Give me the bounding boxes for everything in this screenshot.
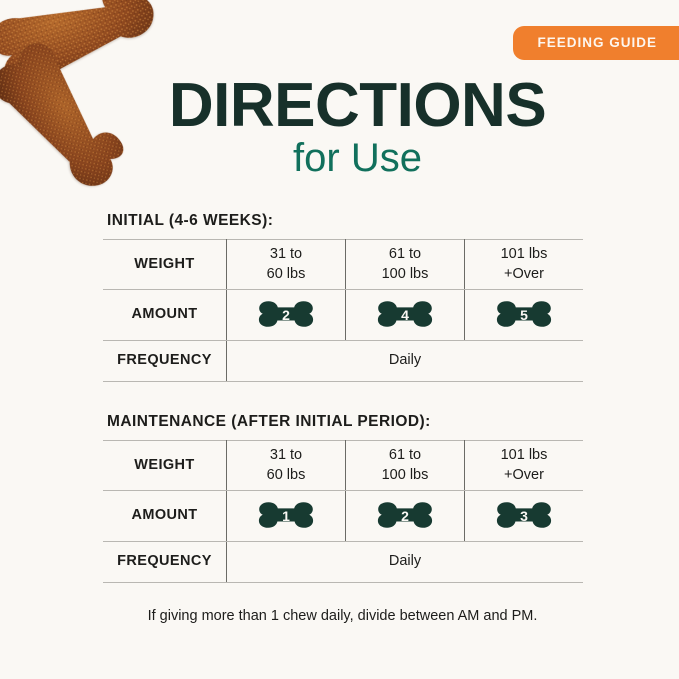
weight-cell-2: 61 to 100 lbs [346,441,465,491]
bone-amount-value: 2 [255,300,317,330]
bone-icon: 2 [374,501,436,531]
weight-line-1: 31 to [227,446,345,466]
bone-icon: 1 [255,501,317,531]
row-label-amount: AMOUNT [103,290,227,341]
bone-icon: 3 [493,501,555,531]
amount-cell-1: 2 [227,290,346,341]
row-label-frequency: FREQUENCY [103,341,227,382]
weight-cell-1: 31 to 60 lbs [227,441,346,491]
weight-cell-1: 31 to 60 lbs [227,240,346,290]
bone-icon: 2 [255,300,317,330]
bone-amount-value: 2 [374,501,436,531]
weight-line-2: 100 lbs [346,466,464,486]
weight-line-2: 100 lbs [346,265,464,285]
bone-amount-value: 4 [374,300,436,330]
table-row-frequency: FREQUENCY Daily [103,542,583,583]
section-heading-maintenance: MAINTENANCE (AFTER INITIAL PERIOD): [107,413,578,431]
bone-amount-value: 1 [255,501,317,531]
amount-cell-2: 4 [346,290,465,341]
footnote: If giving more than 1 chew daily, divide… [0,608,679,624]
weight-line-1: 101 lbs [465,245,583,265]
weight-line-2: +Over [465,466,583,486]
amount-cell-1: 1 [227,491,346,542]
table-row-weight: WEIGHT 31 to 60 lbs 61 to 100 lbs 101 lb… [103,441,583,491]
feeding-table-initial: WEIGHT 31 to 60 lbs 61 to 100 lbs 101 lb… [103,239,583,382]
row-label-amount: AMOUNT [103,491,227,542]
weight-cell-3: 101 lbs +Over [465,240,584,290]
table-row-amount: AMOUNT 2 4 5 [103,290,583,341]
amount-cell-3: 5 [465,290,584,341]
weight-line-2: 60 lbs [227,265,345,285]
weight-line-2: +Over [465,265,583,285]
table-row-frequency: FREQUENCY Daily [103,341,583,382]
row-label-weight: WEIGHT [103,240,227,290]
bone-icon: 4 [374,300,436,330]
feeding-table-maintenance: WEIGHT 31 to 60 lbs 61 to 100 lbs 101 lb… [103,440,583,583]
weight-line-1: 61 to [346,245,464,265]
bone-amount-value: 5 [493,300,555,330]
row-label-frequency: FREQUENCY [103,542,227,583]
amount-cell-3: 3 [465,491,584,542]
directions-content: INITIAL (4-6 WEEKS): WEIGHT 31 to 60 lbs… [103,212,578,583]
title-sub: for Use [0,136,679,181]
weight-cell-3: 101 lbs +Over [465,441,584,491]
frequency-value: Daily [227,542,584,583]
section-heading-initial: INITIAL (4-6 WEEKS): [107,212,578,230]
title-main: DIRECTIONS [0,76,679,136]
feeding-guide-badge: FEEDING GUIDE [513,26,679,60]
bone-amount-value: 3 [493,501,555,531]
weight-line-1: 101 lbs [465,446,583,466]
weight-line-1: 61 to [346,446,464,466]
amount-cell-2: 2 [346,491,465,542]
table-row-amount: AMOUNT 1 2 3 [103,491,583,542]
frequency-value: Daily [227,341,584,382]
weight-line-1: 31 to [227,245,345,265]
page-title: DIRECTIONS for Use [0,76,679,180]
table-row-weight: WEIGHT 31 to 60 lbs 61 to 100 lbs 101 lb… [103,240,583,290]
bone-icon: 5 [493,300,555,330]
row-label-weight: WEIGHT [103,441,227,491]
weight-cell-2: 61 to 100 lbs [346,240,465,290]
weight-line-2: 60 lbs [227,466,345,486]
